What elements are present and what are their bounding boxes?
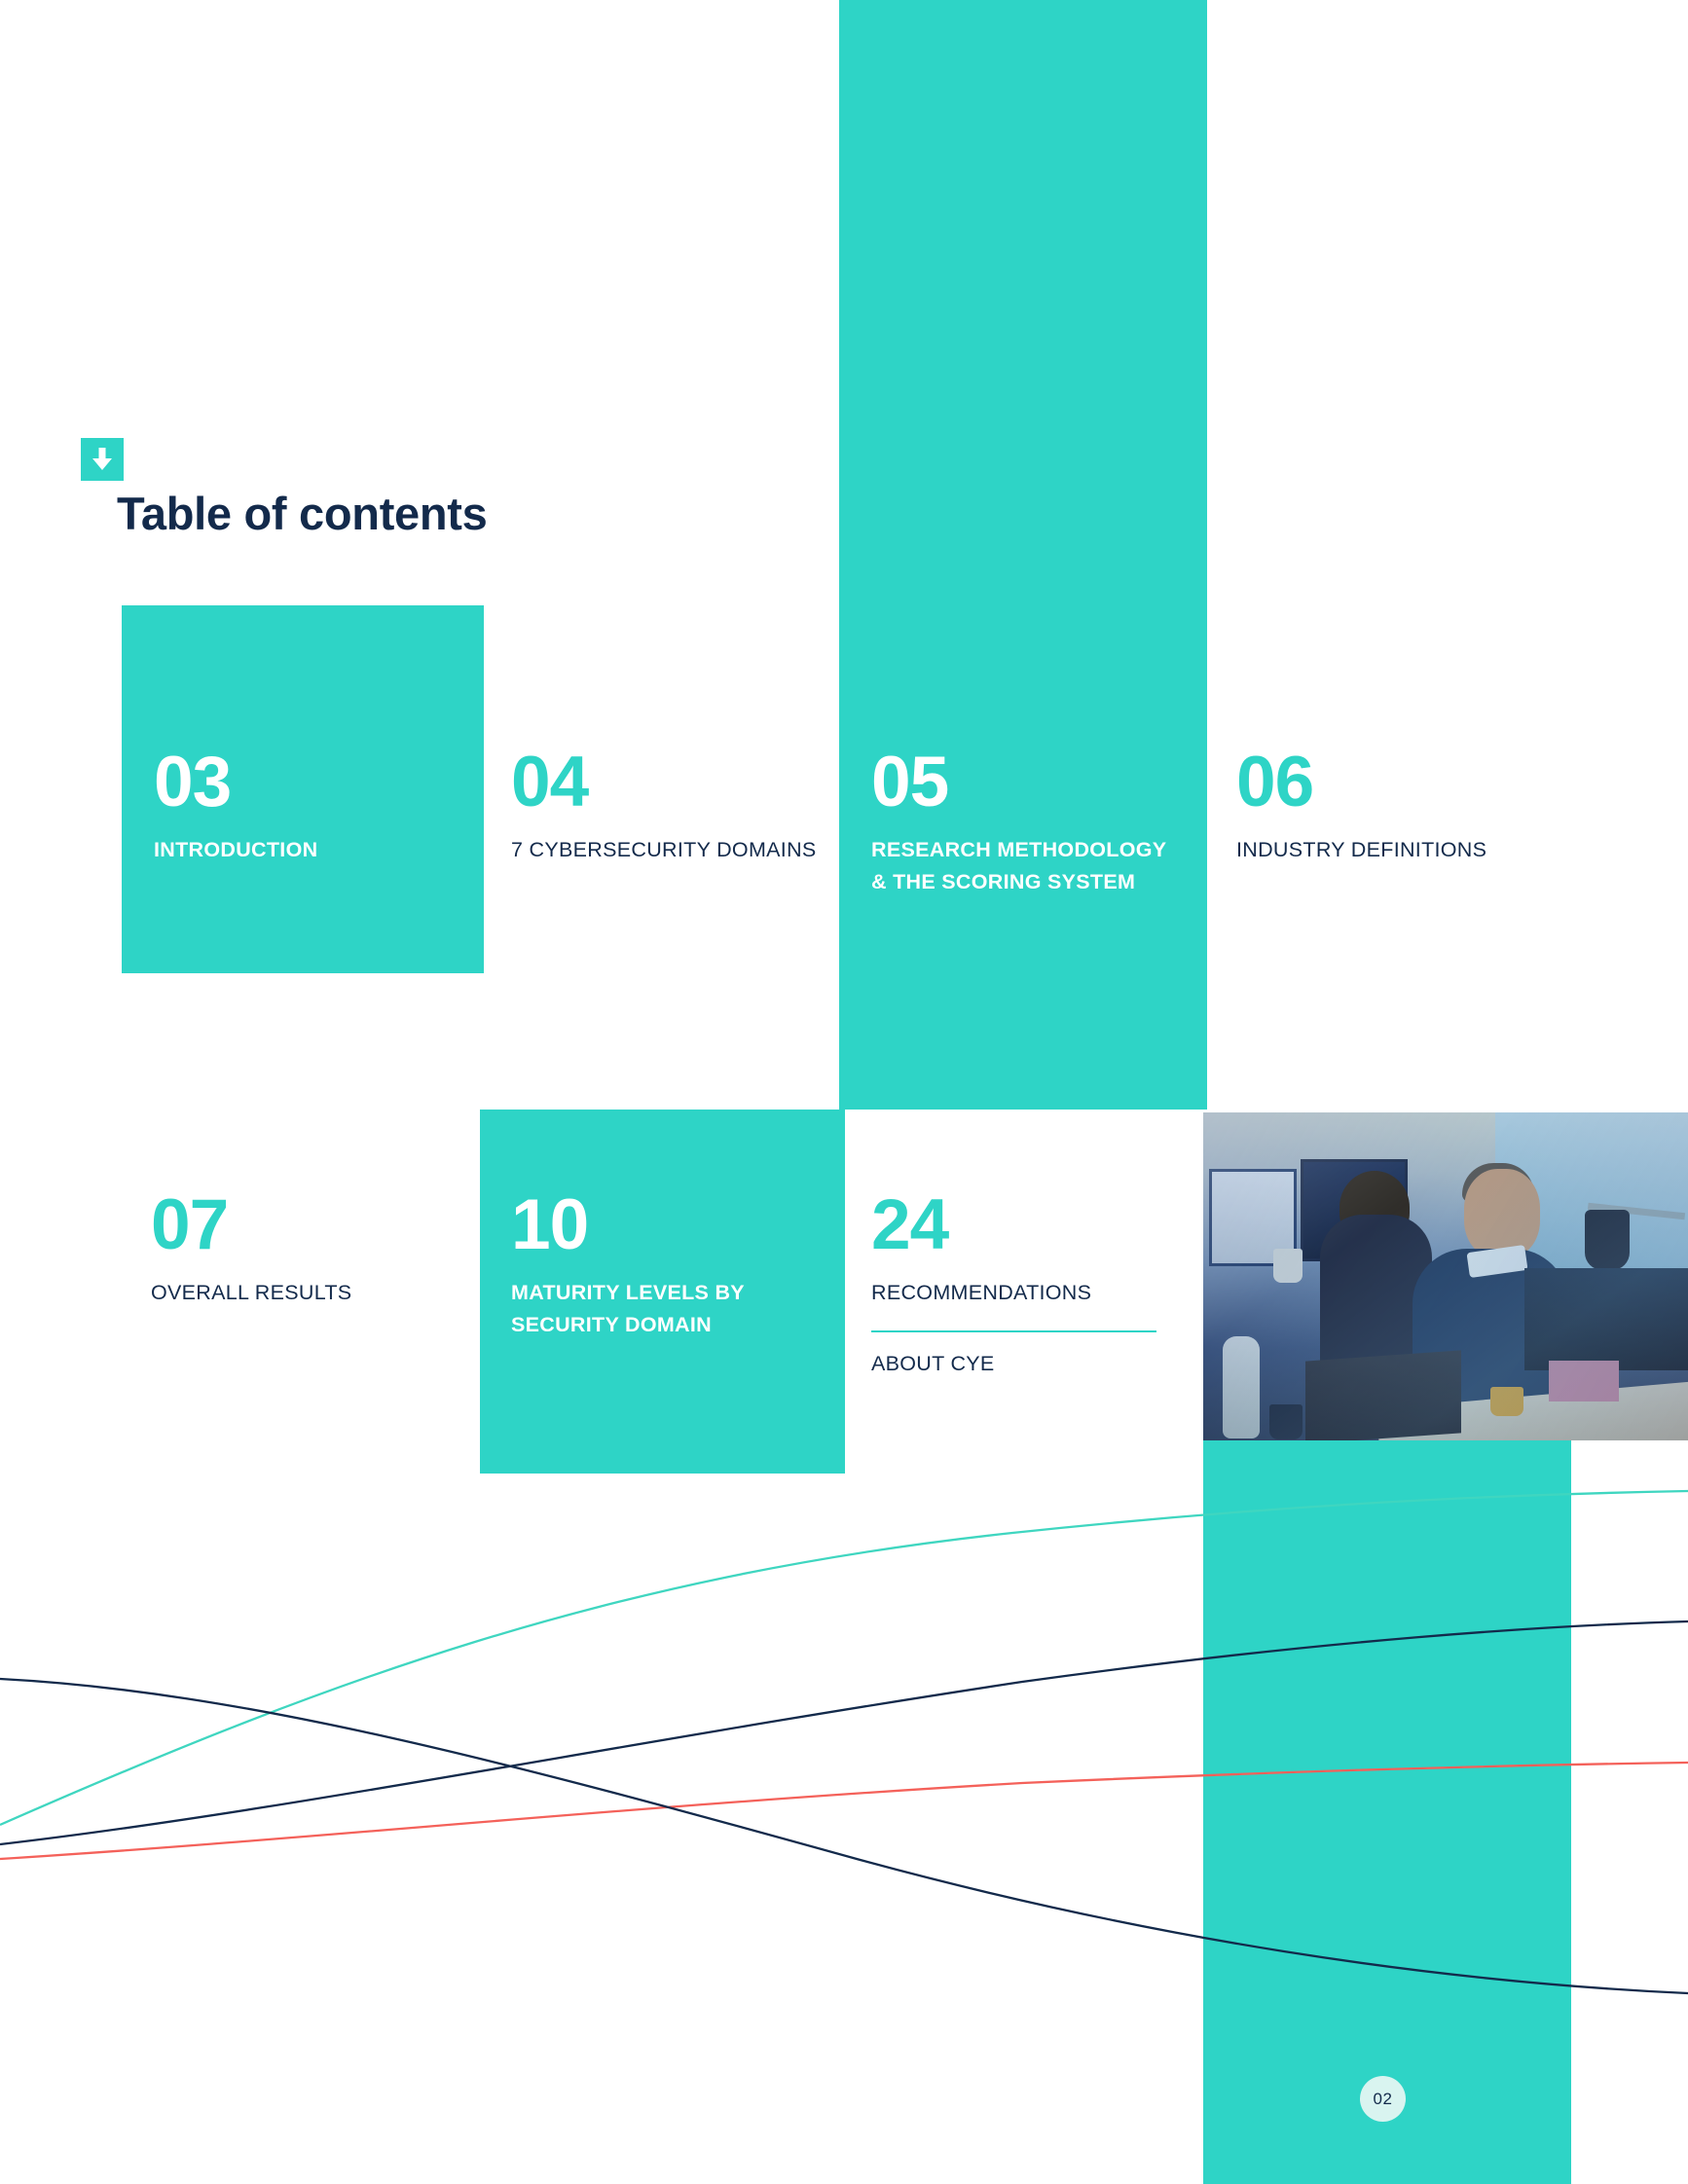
toc-number: 04 bbox=[511, 749, 832, 815]
decorative-wave-lines bbox=[0, 1440, 1688, 2184]
toc-label: RESEARCH METHODOLOGY & THE SCORING SYSTE… bbox=[871, 834, 1183, 897]
toc-page: Table of contents 03 INTRODUCTION 04 7 C… bbox=[0, 0, 1688, 2184]
toc-number: 07 bbox=[151, 1192, 472, 1257]
toc-entry-24[interactable]: 24 RECOMMENDATIONS ABOUT CYE bbox=[871, 1192, 1163, 1376]
toc-sublabel: ABOUT CYE bbox=[871, 1352, 1163, 1376]
toc-entry-04[interactable]: 04 7 CYBERSECURITY DOMAINS bbox=[511, 749, 832, 866]
toc-label: INTRODUCTION bbox=[154, 834, 475, 866]
toc-label: MATURITY LEVELS BY SECURITY DOMAIN bbox=[511, 1277, 842, 1340]
entry-divider bbox=[871, 1330, 1156, 1333]
teal-column-top bbox=[839, 0, 1207, 1110]
toc-label: RECOMMENDATIONS bbox=[871, 1277, 1163, 1309]
page-number-badge: 02 bbox=[1360, 2076, 1406, 2122]
toc-number: 24 bbox=[871, 1192, 1163, 1257]
download-arrow-icon bbox=[81, 438, 124, 481]
toc-entry-06[interactable]: 06 INDUSTRY DEFINITIONS bbox=[1236, 749, 1558, 866]
toc-entry-03[interactable]: 03 INTRODUCTION bbox=[154, 749, 475, 866]
toc-number: 03 bbox=[154, 749, 475, 815]
toc-entry-05[interactable]: 05 RESEARCH METHODOLOGY & THE SCORING SY… bbox=[871, 749, 1183, 898]
office-photo bbox=[1203, 1112, 1688, 1440]
toc-number: 10 bbox=[511, 1192, 842, 1257]
toc-number: 06 bbox=[1236, 749, 1558, 815]
toc-number: 05 bbox=[871, 749, 1183, 815]
toc-entry-07[interactable]: 07 OVERALL RESULTS bbox=[151, 1192, 472, 1309]
toc-entry-10[interactable]: 10 MATURITY LEVELS BY SECURITY DOMAIN bbox=[511, 1192, 842, 1341]
toc-label: OVERALL RESULTS bbox=[151, 1277, 472, 1309]
toc-label: 7 CYBERSECURITY DOMAINS bbox=[511, 834, 832, 866]
page-title: Table of contents bbox=[117, 487, 488, 540]
toc-label: INDUSTRY DEFINITIONS bbox=[1236, 834, 1558, 866]
